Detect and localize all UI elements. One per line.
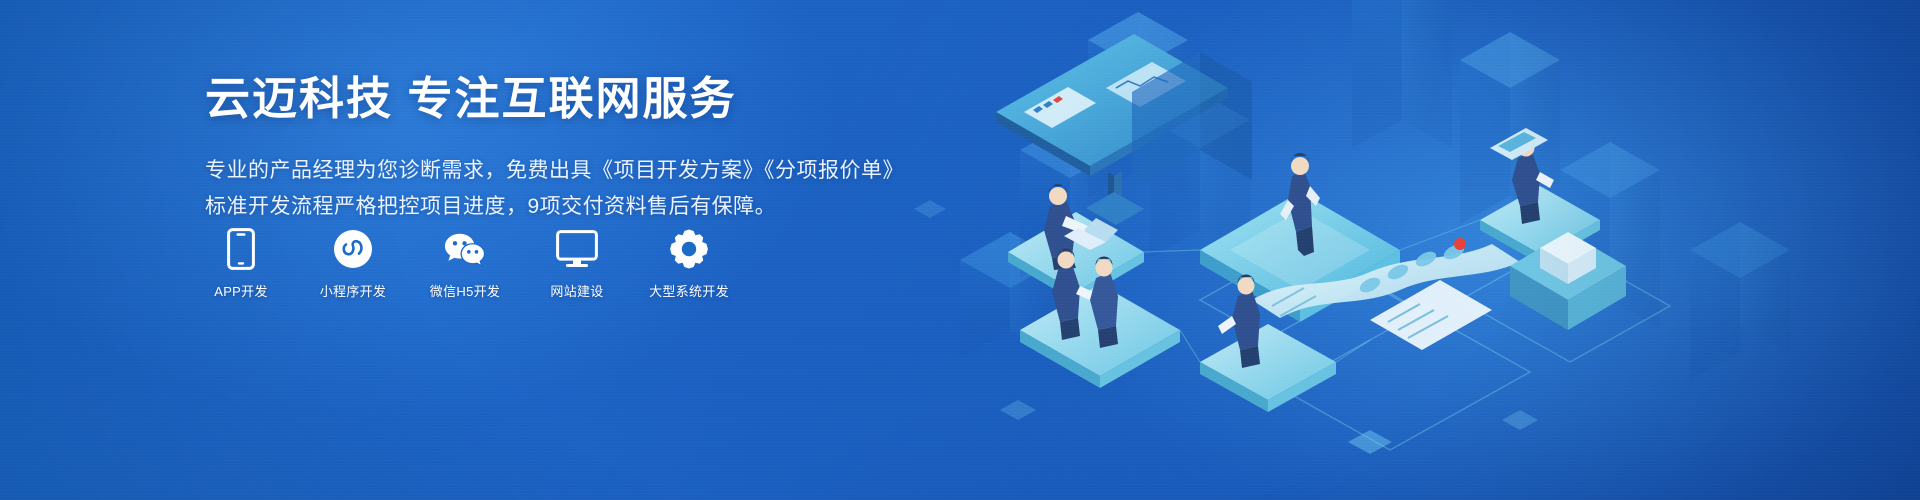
service-label: 大型系统开发 — [649, 281, 729, 300]
service-label: 微信H5开发 — [430, 281, 500, 300]
monitor-icon — [556, 228, 598, 270]
mobile-phone-icon — [220, 228, 262, 270]
gear-icon — [668, 228, 710, 270]
hero-subtitle: 专业的产品经理为您诊断需求，免费出具《项目开发方案》《分项报价单》 标准开发流程… — [205, 153, 965, 225]
service-label: 小程序开发 — [320, 281, 387, 300]
service-item-mini-program[interactable]: 小程序开发 — [317, 228, 389, 300]
subtitle-line-2: 标准开发流程严格把控项目进度，9项交付资料售后有保障。 — [205, 189, 965, 225]
mini-program-icon — [332, 228, 374, 270]
service-label: APP开发 — [214, 281, 268, 300]
service-item-app[interactable]: APP开发 — [205, 228, 277, 300]
service-item-wechat-h5[interactable]: 微信H5开发 — [429, 228, 501, 300]
service-item-large-system[interactable]: 大型系统开发 — [653, 228, 725, 300]
service-item-website[interactable]: 网站建设 — [541, 228, 613, 300]
wechat-icon — [444, 228, 486, 270]
hero-banner: 云迈科技 专注互联网服务 专业的产品经理为您诊断需求，免费出具《项目开发方案》《… — [0, 0, 1920, 500]
service-label: 网站建设 — [550, 281, 603, 300]
illustration-isometric-team-dashboard — [900, 0, 1920, 500]
subtitle-line-1: 专业的产品经理为您诊断需求，免费出具《项目开发方案》《分项报价单》 — [205, 153, 965, 189]
hero-copy: 云迈科技 专注互联网服务 专业的产品经理为您诊断需求，免费出具《项目开发方案》《… — [205, 72, 965, 225]
service-list: APP开发 小程序开发 微信 — [205, 228, 725, 300]
page-title: 云迈科技 专注互联网服务 — [205, 72, 965, 127]
